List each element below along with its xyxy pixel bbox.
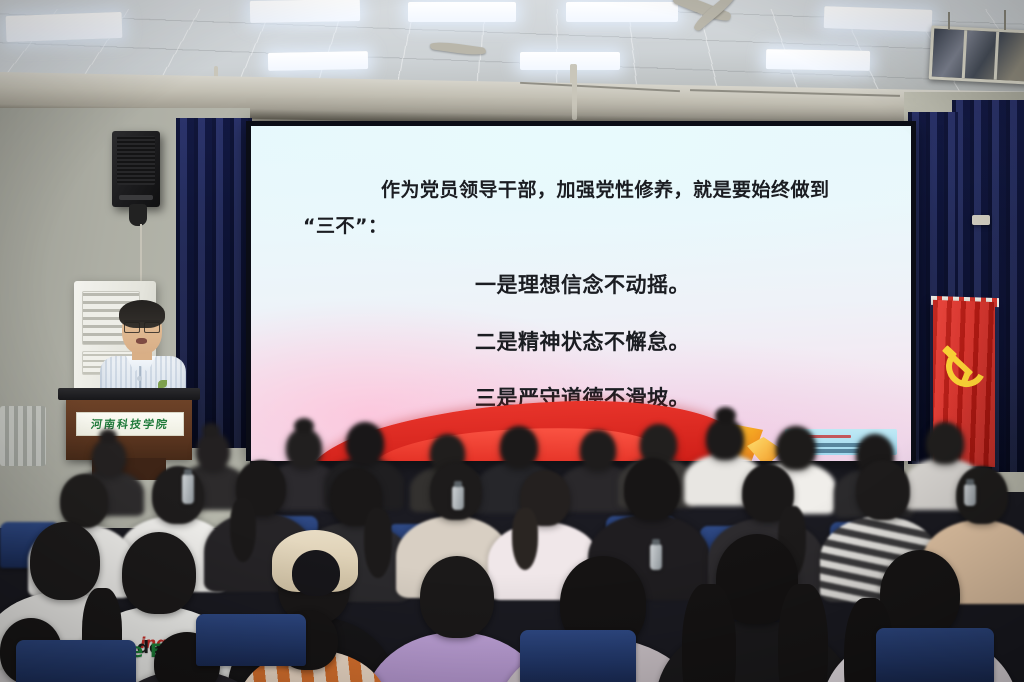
ceiling-light-5: [824, 6, 933, 32]
auditorium-seat: [16, 640, 136, 682]
hair-bun: [99, 429, 117, 444]
slide-bullet-1: 一是理想信念不动摇。: [251, 269, 911, 299]
ac-unit-grille: [932, 29, 1024, 82]
presenter-mouth: [136, 338, 147, 344]
speaker-mount-bracket: [129, 204, 147, 226]
person-head: [580, 430, 616, 470]
ceiling-light-6: [268, 51, 368, 71]
hair-bun: [715, 407, 736, 424]
person-head: [500, 426, 538, 468]
lectern-desktop: [58, 388, 200, 400]
lecture-hall-photo: 作为党员领导干部，加强党性修养，就是要始终做到 “三不”： 一是理想信念不动摇。…: [0, 0, 1024, 682]
person-head: [286, 428, 322, 468]
wall-pipe: [572, 64, 577, 120]
slide-bullet-2: 二是精神状态不懈怠。: [251, 326, 911, 356]
person-head: [880, 550, 960, 638]
person-head: [926, 422, 964, 464]
glasses-icon: [124, 320, 160, 331]
ponytail: [230, 498, 256, 562]
speaker-cable: [140, 224, 142, 284]
person-head: [152, 466, 204, 524]
auditorium-seat: [876, 628, 994, 682]
long-hair-right: [778, 584, 828, 682]
slide-lead-paragraph: 作为党员领导干部，加强党性修养，就是要始终做到 “三不”：: [303, 172, 871, 244]
person-head: [624, 458, 680, 520]
ceiling-light-1: [6, 12, 123, 42]
person-head: [776, 426, 816, 470]
ceiling-ac-unit: [929, 25, 1024, 84]
water-bottle: [650, 544, 662, 570]
hammer-and-sickle-icon: [943, 338, 977, 391]
wall-lamp-icon: [972, 215, 990, 225]
person-head: [346, 422, 384, 464]
person-head: [420, 556, 494, 638]
ponytail: [512, 508, 538, 570]
hair-bun: [202, 423, 220, 438]
ac-hanger-2: [1004, 10, 1006, 30]
auditorium-seat: [520, 630, 636, 682]
long-hair: [682, 584, 736, 682]
water-bottle: [182, 474, 194, 504]
audience: ings ade By ve Four: [0, 404, 1024, 682]
person-head: [122, 532, 196, 614]
person-head: [706, 418, 744, 460]
wall-loudspeaker: [112, 131, 160, 207]
speaker-bar: [119, 195, 153, 200]
slide-lead-line-1: 作为党员领导干部，加强党性修养，就是要始终做到: [303, 172, 871, 208]
speaker-mesh: [117, 136, 155, 185]
water-bottle: [964, 484, 976, 506]
auditorium-seat: [196, 614, 306, 666]
ceiling-light-3: [408, 2, 516, 22]
ponytail: [364, 508, 392, 578]
person-head: [856, 460, 910, 520]
water-bottle: [452, 486, 464, 510]
hair-bun: [294, 418, 314, 434]
cap-crown-shadow: [292, 550, 340, 596]
presenter-shirt-logo: [158, 380, 167, 388]
person-head: [30, 522, 100, 600]
ceiling-light-4: [566, 2, 678, 22]
person-head: [60, 474, 108, 528]
ceiling-light-8: [766, 49, 870, 71]
slide-lead-line-2: “三不”：: [303, 215, 387, 237]
presenter-button-1: [137, 376, 142, 381]
ceiling-light-2: [250, 0, 360, 23]
ac-hanger-1: [948, 12, 950, 30]
